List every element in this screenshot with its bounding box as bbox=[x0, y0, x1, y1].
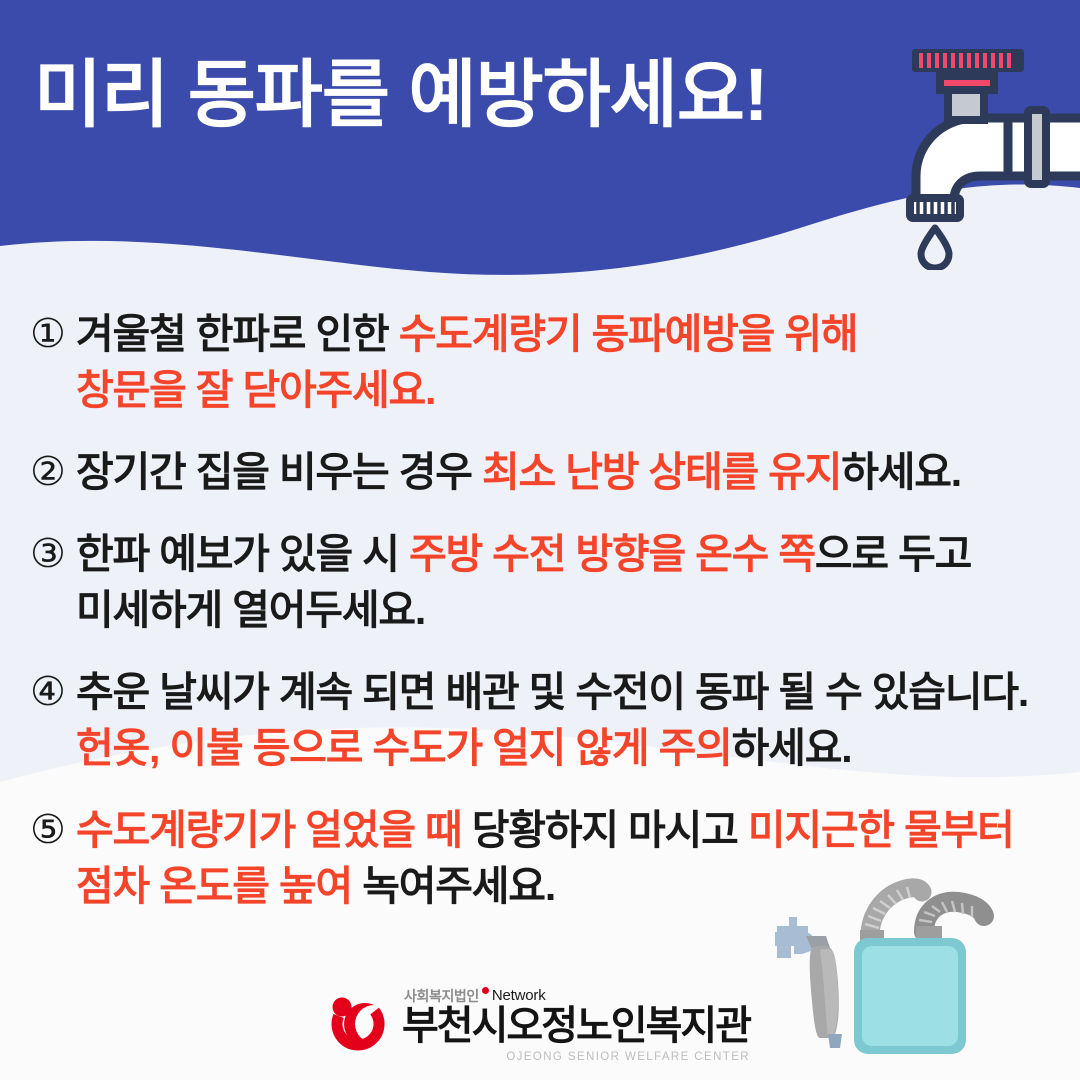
logo-supra-korean: 사회복지법인 bbox=[404, 989, 479, 1003]
tip-text-highlight: 창문을 잘 닫아주세요. bbox=[76, 367, 435, 413]
tip-text-line: 수도계량기가 얼었을 때 당황하지 마시고 미지근한 물부터 bbox=[76, 802, 1060, 858]
tip-text-plain: 추운 날씨가 계속 되면 배관 및 수전이 동파 될 수 있습니다. bbox=[76, 669, 1028, 715]
tip-text-line: 창문을 잘 닫아주세요. bbox=[76, 362, 1060, 418]
tip-item: ①겨울철 한파로 인한 수도계량기 동파예방을 위해창문을 잘 닫아주세요. bbox=[30, 306, 1060, 418]
tip-text-plain: 으로 두고 bbox=[815, 531, 971, 577]
logo-supra-english: Network bbox=[492, 988, 546, 1003]
tip-text-plain: 하세요. bbox=[841, 449, 961, 495]
tip-item: ③한파 예보가 있을 시 주방 수전 방향을 온수 쪽으로 두고미세하게 열어두… bbox=[30, 526, 1060, 638]
faucet-icon bbox=[888, 40, 1080, 270]
tip-text-line: 헌옷, 이불 등으로 수도가 얼지 않게 주의하세요. bbox=[76, 720, 1060, 776]
logo-name-english: OJEONG SENIOR WELFARE CENTER bbox=[506, 1052, 750, 1064]
tip-text-line: 추운 날씨가 계속 되면 배관 및 수전이 동파 될 수 있습니다. bbox=[76, 664, 1060, 720]
tip-text: 장기간 집을 비우는 경우 최소 난방 상태를 유지하세요. bbox=[76, 444, 1060, 500]
tip-text: 추운 날씨가 계속 되면 배관 및 수전이 동파 될 수 있습니다.헌옷, 이불… bbox=[76, 664, 1060, 776]
tips-list: ①겨울철 한파로 인한 수도계량기 동파예방을 위해창문을 잘 닫아주세요.②장… bbox=[30, 306, 1060, 940]
tip-text: 겨울철 한파로 인한 수도계량기 동파예방을 위해창문을 잘 닫아주세요. bbox=[76, 306, 1060, 418]
tip-text-plain: 미세하게 열어두세요. bbox=[76, 587, 425, 633]
tip-item: ④추운 날씨가 계속 되면 배관 및 수전이 동파 될 수 있습니다.헌옷, 이… bbox=[30, 664, 1060, 776]
tip-number: ③ bbox=[30, 526, 76, 582]
tip-number: ② bbox=[30, 444, 76, 500]
tip-number: ⑤ bbox=[30, 802, 76, 858]
tip-text-highlight: 수도계량기가 얼었을 때 bbox=[76, 807, 462, 853]
tip-text-highlight: 헌옷, 이불 등으로 수도가 얼지 않게 주의 bbox=[76, 725, 732, 771]
poster-canvas: 미리 동파를 예방하세요! bbox=[0, 0, 1080, 1080]
tip-text-highlight: 최소 난방 상태를 유지 bbox=[482, 449, 841, 495]
page-title: 미리 동파를 예방하세요! bbox=[34, 56, 768, 134]
tip-text-plain: 장기간 집을 비우는 경우 bbox=[76, 449, 482, 495]
tip-text: 수도계량기가 얼었을 때 당황하지 마시고 미지근한 물부터점차 온도를 높여 … bbox=[76, 802, 1060, 914]
tip-item: ②장기간 집을 비우는 경우 최소 난방 상태를 유지하세요. bbox=[30, 444, 1060, 500]
tip-number: ① bbox=[30, 306, 76, 362]
tip-text-line: 점차 온도를 높여 녹여주세요. bbox=[76, 858, 1060, 914]
logo-mark-icon bbox=[330, 997, 388, 1056]
tip-text-plain: 녹여주세요. bbox=[352, 863, 555, 909]
organization-logo: 사회복지법인 Network 부천시오정노인복지관 OJEONG SENIOR … bbox=[0, 980, 1080, 1072]
tip-text-line: 장기간 집을 비우는 경우 최소 난방 상태를 유지하세요. bbox=[76, 444, 1060, 500]
logo-name-korean: 부천시오정노인복지관 bbox=[402, 1005, 750, 1048]
tip-text-line: 한파 예보가 있을 시 주방 수전 방향을 온수 쪽으로 두고 bbox=[76, 526, 1060, 582]
tip-number: ④ bbox=[30, 664, 76, 720]
logo-dot-icon bbox=[482, 987, 489, 994]
logo-supra-line: 사회복지법인 Network bbox=[404, 988, 546, 1003]
tip-text-plain: 한파 예보가 있을 시 bbox=[76, 531, 409, 577]
tip-text-line: 미세하게 열어두세요. bbox=[76, 582, 1060, 638]
tip-item: ⑤수도계량기가 얼었을 때 당황하지 마시고 미지근한 물부터점차 온도를 높여… bbox=[30, 802, 1060, 914]
tip-text-highlight: 점차 온도를 높여 bbox=[76, 863, 352, 909]
tip-text-highlight: 미지근한 물부터 bbox=[748, 807, 1014, 853]
tip-text-plain: 당황하지 마시고 bbox=[462, 807, 748, 853]
tip-text-line: 겨울철 한파로 인한 수도계량기 동파예방을 위해 bbox=[76, 306, 1060, 362]
tip-text-plain: 하세요. bbox=[732, 725, 852, 771]
tip-text-highlight: 주방 수전 방향을 온수 쪽 bbox=[409, 531, 815, 577]
tip-text-plain: 겨울철 한파로 인한 bbox=[76, 311, 399, 357]
tip-text-highlight: 수도계량기 동파예방을 위해 bbox=[399, 311, 858, 357]
tip-text: 한파 예보가 있을 시 주방 수전 방향을 온수 쪽으로 두고미세하게 열어두세… bbox=[76, 526, 1060, 638]
